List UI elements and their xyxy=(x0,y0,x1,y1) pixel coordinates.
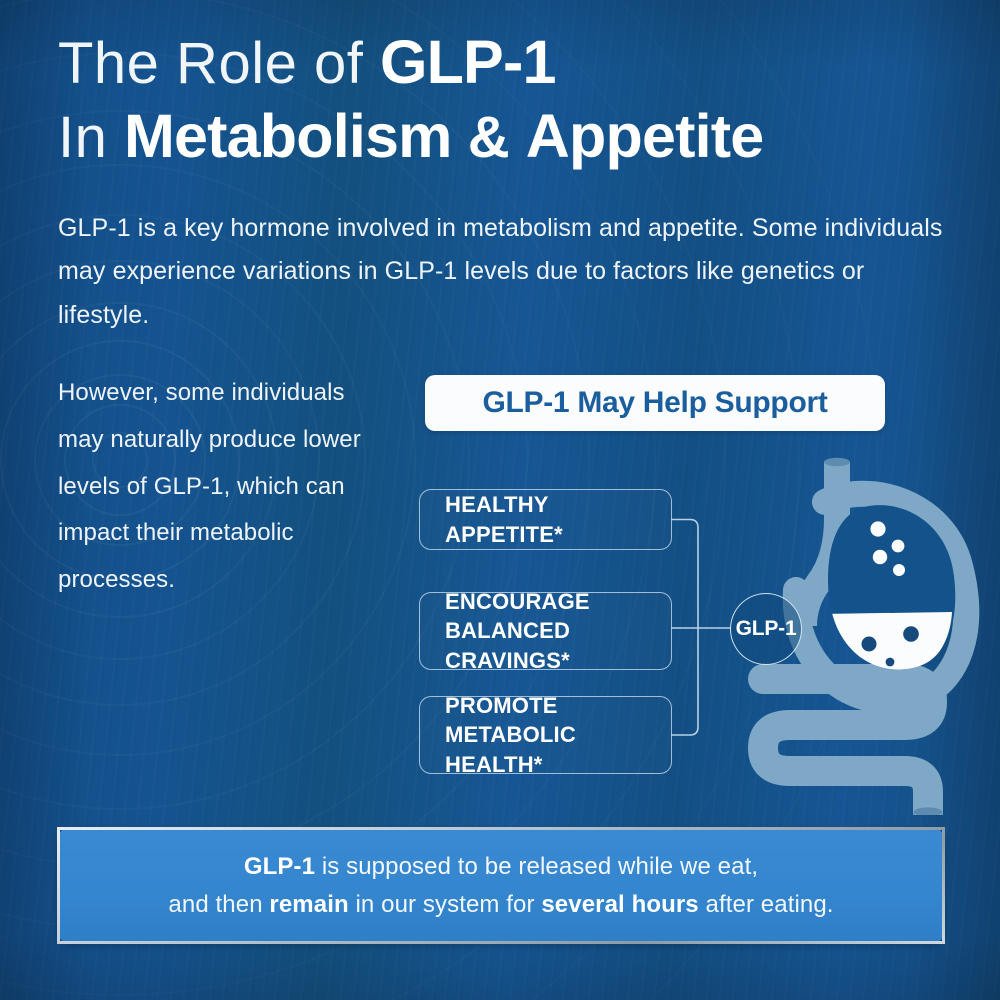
benefit-box-encourage-balanced-cravings[interactable]: ENCOURAGE BALANCED CRAVINGS* xyxy=(419,592,672,670)
bb-line2-post: after eating. xyxy=(699,891,834,918)
headline-ampersand: & xyxy=(468,105,510,170)
left-column-paragraph: However, some individuals may naturally … xyxy=(58,370,388,604)
bb-line2-pre: and then xyxy=(168,891,269,918)
nutrient-dot xyxy=(873,550,887,564)
bottom-banner-line-2: and then remain in our system for severa… xyxy=(168,886,833,924)
bb-bold-glp1: GLP-1 xyxy=(244,853,315,880)
benefit-label: HEALTHY APPETITE* xyxy=(420,490,671,548)
nutrient-dot xyxy=(893,564,905,576)
bb-line1-rest: is supposed to be released while we eat, xyxy=(315,853,758,880)
support-banner: GLP-1 May Help Support xyxy=(425,375,885,431)
benefit-box-promote-metabolic-health[interactable]: PROMOTE METABOLIC HEALTH* xyxy=(419,696,672,774)
glp1-node[interactable]: GLP-1 xyxy=(730,593,802,665)
bb-bold-several-hours: several hours xyxy=(541,891,698,918)
bb-line2-mid: in our system for xyxy=(349,891,542,918)
bb-bold-remain: remain xyxy=(269,891,348,918)
headline-thin-in: In xyxy=(58,105,107,170)
headline-bold-appetite: Appetite xyxy=(526,102,764,170)
bottom-banner-line-1: GLP-1 is supposed to be released while w… xyxy=(168,848,833,886)
headline-line-2: In Metabolism & Appetite xyxy=(58,106,958,166)
benefit-box-healthy-appetite[interactable]: HEALTHY APPETITE* xyxy=(419,489,672,550)
bottom-banner: GLP-1 is supposed to be released while w… xyxy=(57,827,945,944)
support-banner-label: GLP-1 May Help Support xyxy=(482,386,827,420)
food-particle xyxy=(862,637,877,652)
bottom-banner-text: GLP-1 is supposed to be released while w… xyxy=(168,848,833,924)
headline-bold-glp1: GLP-1 xyxy=(380,28,556,96)
page-title: The Role of GLP-1 In Metabolism & Appeti… xyxy=(58,32,958,167)
benefit-label: ENCOURAGE BALANCED CRAVINGS* xyxy=(420,587,671,674)
benefit-label: PROMOTE METABOLIC HEALTH* xyxy=(420,691,671,778)
nutrient-dot xyxy=(892,540,905,553)
glp1-node-label: GLP-1 xyxy=(736,617,797,641)
headline-bold-metabolism: Metabolism xyxy=(124,102,452,170)
food-particle xyxy=(903,626,919,642)
esophagus-opening xyxy=(824,458,850,466)
infographic-page: The Role of GLP-1 In Metabolism & Appeti… xyxy=(0,0,1000,1000)
intro-paragraph: GLP-1 is a key hormone involved in metab… xyxy=(58,207,943,337)
headline-line-1: The Role of GLP-1 xyxy=(58,32,958,92)
food-particle xyxy=(886,658,895,667)
headline-thin-the-role-of: The Role of xyxy=(58,31,363,96)
nutrient-dot xyxy=(870,521,885,536)
